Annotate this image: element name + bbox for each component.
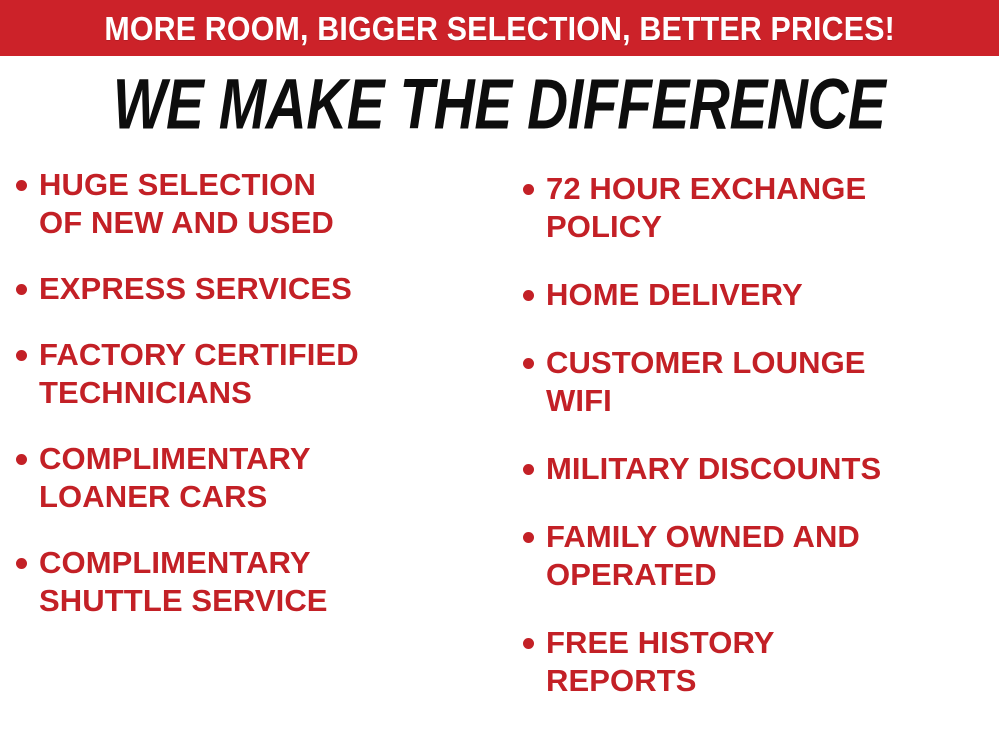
- benefit-label: EXPRESS SERVICES: [39, 270, 352, 308]
- benefit-label: MILITARY DISCOUNTS: [546, 450, 881, 488]
- benefits-column-left: HUGE SELECTION OF NEW AND USED EXPRESS S…: [0, 150, 505, 648]
- bullet-dot-icon: [16, 284, 27, 295]
- list-item: EXPRESS SERVICES: [16, 270, 505, 308]
- promo-banner-text: MORE ROOM, BIGGER SELECTION, BETTER PRIC…: [104, 12, 895, 45]
- list-item: FAMILY OWNED AND OPERATED: [523, 518, 999, 594]
- bullet-dot-icon: [16, 350, 27, 361]
- list-item: COMPLIMENTARY LOANER CARS: [16, 440, 505, 516]
- list-item: 72 HOUR EXCHANGE POLICY: [523, 170, 999, 246]
- bullet-dot-icon: [523, 464, 534, 475]
- list-item: CUSTOMER LOUNGE WIFI: [523, 344, 999, 420]
- bullet-dot-icon: [523, 532, 534, 543]
- benefit-label: 72 HOUR EXCHANGE POLICY: [546, 170, 866, 246]
- advertisement-banner-graphic: MORE ROOM, BIGGER SELECTION, BETTER PRIC…: [0, 0, 999, 692]
- bullet-dot-icon: [16, 454, 27, 465]
- top-promo-banner: MORE ROOM, BIGGER SELECTION, BETTER PRIC…: [0, 0, 999, 56]
- benefit-label: HOME DELIVERY: [546, 276, 803, 314]
- benefit-label: FAMILY OWNED AND OPERATED: [546, 518, 860, 594]
- benefits-columns: HUGE SELECTION OF NEW AND USED EXPRESS S…: [0, 150, 999, 692]
- bullet-dot-icon: [16, 558, 27, 569]
- benefit-label: FACTORY CERTIFIED TECHNICIANS: [39, 336, 359, 412]
- bullet-dot-icon: [523, 358, 534, 369]
- bullet-dot-icon: [523, 290, 534, 301]
- benefit-label: HUGE SELECTION OF NEW AND USED: [39, 166, 334, 242]
- headline: WE MAKE THE DIFFERENCE: [0, 68, 999, 134]
- bullet-dot-icon: [523, 184, 534, 195]
- bullet-dot-icon: [523, 638, 534, 649]
- list-item: MILITARY DISCOUNTS: [523, 450, 999, 488]
- benefit-label: COMPLIMENTARY LOANER CARS: [39, 440, 311, 516]
- list-item: COMPLIMENTARY SHUTTLE SERVICE: [16, 544, 505, 620]
- benefit-label: CUSTOMER LOUNGE WIFI: [546, 344, 866, 420]
- list-item: FACTORY CERTIFIED TECHNICIANS: [16, 336, 505, 412]
- list-item: HUGE SELECTION OF NEW AND USED: [16, 166, 505, 242]
- benefit-label: COMPLIMENTARY SHUTTLE SERVICE: [39, 544, 328, 620]
- benefit-label: FREE HISTORY REPORTS: [546, 624, 775, 700]
- bullet-dot-icon: [16, 180, 27, 191]
- benefits-column-right: 72 HOUR EXCHANGE POLICY HOME DELIVERY CU…: [505, 150, 999, 730]
- list-item: HOME DELIVERY: [523, 276, 999, 314]
- list-item: FREE HISTORY REPORTS: [523, 624, 999, 700]
- headline-text: WE MAKE THE DIFFERENCE: [113, 68, 886, 139]
